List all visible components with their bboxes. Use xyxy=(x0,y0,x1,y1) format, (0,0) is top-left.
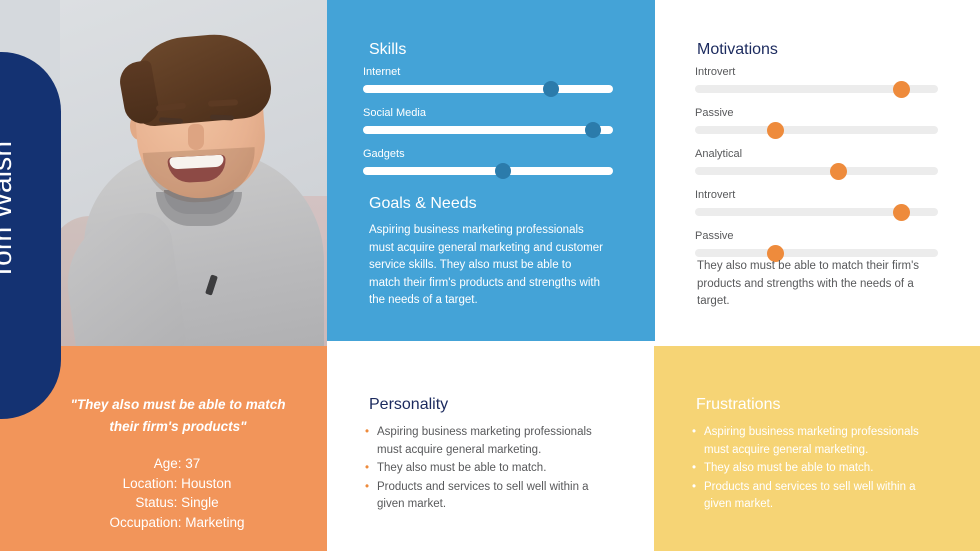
motivations-slider-2[interactable]: Passive xyxy=(695,107,938,134)
persona-infographic: Tom Walsh "They also must be able to mat… xyxy=(0,0,980,551)
slider-knob[interactable] xyxy=(495,163,511,179)
motivations-slider-1[interactable]: Introvert xyxy=(695,66,938,93)
bullet-icon: • xyxy=(365,479,369,497)
slider-track[interactable] xyxy=(695,167,938,175)
list-item: • Products and services to sell well wit… xyxy=(365,479,615,514)
persona-name: Tom Walsh xyxy=(0,52,61,419)
slider-knob[interactable] xyxy=(830,163,847,180)
motivations-slider-label: Introvert xyxy=(695,189,938,202)
frustrations-list: • Aspiring business marketing profession… xyxy=(692,424,942,515)
list-item-text: Aspiring business marketing professional… xyxy=(377,426,592,456)
bullet-icon: • xyxy=(692,424,696,442)
motivations-slider-3[interactable]: Analytical xyxy=(695,148,938,175)
list-item: • Products and services to sell well wit… xyxy=(692,479,942,514)
list-item: • Aspiring business marketing profession… xyxy=(365,424,615,459)
motivations-slider-list: Introvert Passive Analytical Introvert xyxy=(695,66,938,271)
slider-knob[interactable] xyxy=(543,81,559,97)
slider-track[interactable] xyxy=(695,249,938,257)
photo-nose xyxy=(188,124,204,150)
goals-body: Aspiring business marketing professional… xyxy=(369,222,604,310)
slider-track[interactable] xyxy=(695,208,938,216)
slider-track[interactable] xyxy=(695,85,938,93)
bullet-icon: • xyxy=(692,460,696,478)
motivations-slider-label: Passive xyxy=(695,107,938,120)
persona-photo xyxy=(60,0,327,346)
photo-eye-right xyxy=(210,115,234,121)
list-item: • They also must be able to match. xyxy=(692,460,942,478)
motivations-slider-label: Analytical xyxy=(695,148,938,161)
photo-teeth xyxy=(169,155,224,170)
bullet-icon: • xyxy=(365,460,369,478)
motivations-slider-5[interactable]: Passive xyxy=(695,230,938,257)
list-item: • They also must be able to match. xyxy=(365,460,615,478)
list-item-text: They also must be able to match. xyxy=(377,462,546,474)
motivations-slider-4[interactable]: Introvert xyxy=(695,189,938,216)
slider-knob[interactable] xyxy=(893,204,910,221)
personality-list: • Aspiring business marketing profession… xyxy=(365,424,615,515)
fact-status: Status: Single xyxy=(46,493,308,513)
motivations-title: Motivations xyxy=(697,41,778,59)
list-item-text: Products and services to sell well withi… xyxy=(377,481,589,511)
list-item-text: Products and services to sell well withi… xyxy=(704,481,916,511)
fact-age: Age: 37 xyxy=(46,454,308,474)
frustrations-title: Frustrations xyxy=(696,396,780,414)
persona-quote: "They also must be able to match their f… xyxy=(56,394,300,438)
personality-title: Personality xyxy=(369,396,448,414)
goals-title: Goals & Needs xyxy=(369,195,477,213)
motivations-body: They also must be able to match their fi… xyxy=(697,258,937,311)
skills-goals-panel: Skills Internet Social Media Gadgets xyxy=(327,0,655,341)
slider-knob[interactable] xyxy=(767,122,784,139)
bullet-icon: • xyxy=(365,424,369,442)
list-item-text: Aspiring business marketing professional… xyxy=(704,426,919,456)
slider-track[interactable] xyxy=(363,167,613,175)
fact-occupation: Occupation: Marketing xyxy=(46,513,308,533)
list-item-text: They also must be able to match. xyxy=(704,462,873,474)
bullet-icon: • xyxy=(692,479,696,497)
skills-slider-label: Social Media xyxy=(363,107,613,120)
list-item: • Aspiring business marketing profession… xyxy=(692,424,942,459)
persona-facts: Age: 37 Location: Houston Status: Single… xyxy=(46,454,308,532)
frustrations-panel: Frustrations • Aspiring business marketi… xyxy=(654,346,980,551)
skills-slider-gadgets[interactable]: Gadgets xyxy=(363,148,613,175)
skills-slider-label: Gadgets xyxy=(363,148,613,161)
skills-slider-internet[interactable]: Internet xyxy=(363,66,613,93)
motivations-slider-label: Passive xyxy=(695,230,938,243)
personality-panel: Personality • Aspiring business marketin… xyxy=(327,346,654,551)
slider-track[interactable] xyxy=(363,85,613,93)
name-pill: Tom Walsh xyxy=(0,52,61,419)
slider-knob[interactable] xyxy=(893,81,910,98)
slider-knob[interactable] xyxy=(585,122,601,138)
skills-slider-label: Internet xyxy=(363,66,613,79)
fact-location: Location: Houston xyxy=(46,474,308,494)
motivations-panel: Motivations Introvert Passive Analytical xyxy=(655,0,980,346)
skills-title: Skills xyxy=(369,41,406,59)
skills-slider-list: Internet Social Media Gadgets xyxy=(363,66,613,189)
skills-slider-social-media[interactable]: Social Media xyxy=(363,107,613,134)
slider-track[interactable] xyxy=(363,126,613,134)
slider-track[interactable] xyxy=(695,126,938,134)
motivations-slider-label: Introvert xyxy=(695,66,938,79)
